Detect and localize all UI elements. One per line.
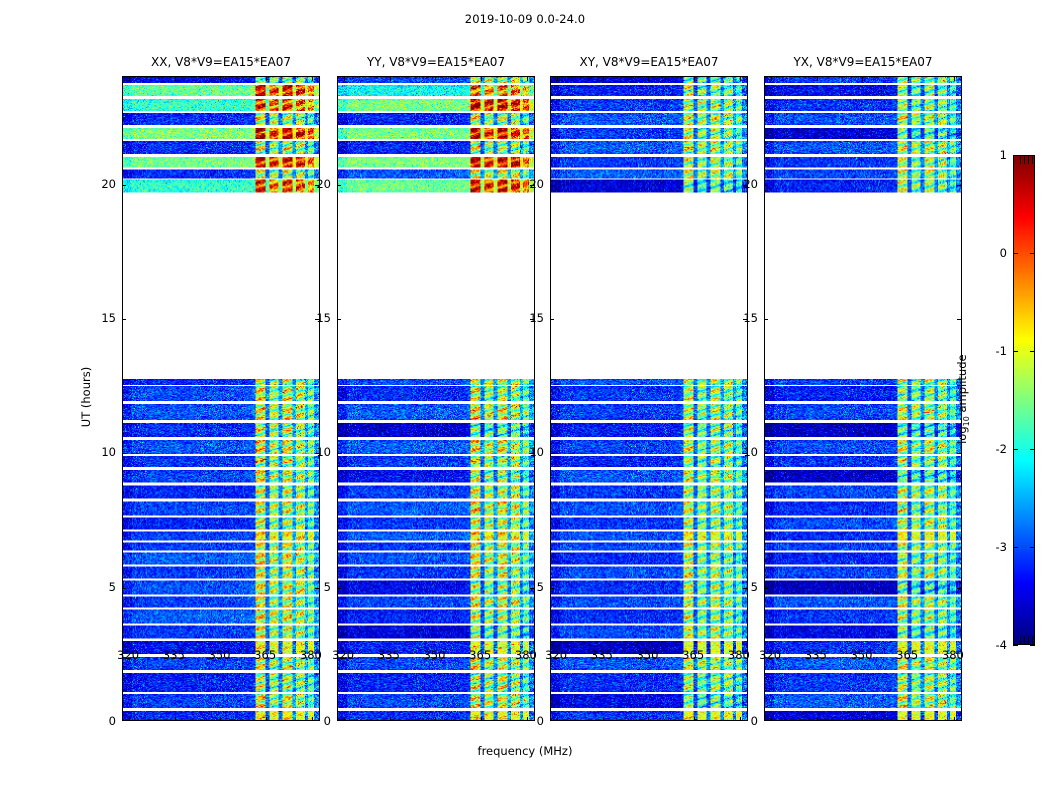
colorbar-label: log10 amplitude: [955, 329, 971, 469]
x-tick-top: [129, 77, 130, 81]
colorbar-tick-label: -1: [979, 344, 1007, 358]
x-tick-top: [954, 77, 955, 81]
x-tick-label: 335: [805, 648, 827, 662]
y-tick-label: 5: [307, 580, 331, 594]
x-tick-top: [344, 77, 345, 81]
x-tick: [220, 717, 221, 721]
x-tick-top: [817, 77, 818, 81]
x-tick: [817, 717, 818, 721]
colorbar[interactable]: [1013, 155, 1035, 645]
panel-title-xy: XY, V8*V9=EA15*EA07: [550, 55, 748, 69]
colorbar-tick: [1013, 547, 1018, 548]
x-tick-top: [435, 77, 436, 81]
x-tick-label: 320: [332, 648, 354, 662]
colorbar-tick: [1013, 155, 1018, 156]
x-tick-top: [557, 77, 558, 81]
x-tick: [390, 717, 391, 721]
x-tick: [129, 717, 130, 721]
colorbar-minor-tick: [1020, 636, 1021, 644]
x-tick: [908, 717, 909, 721]
x-tick-top: [527, 77, 528, 81]
x-tick: [771, 717, 772, 721]
x-tick: [557, 717, 558, 721]
axes-yy[interactable]: [337, 76, 535, 721]
x-tick: [175, 717, 176, 721]
y-tick: [122, 588, 126, 589]
colorbar-tick-label: -2: [979, 442, 1007, 456]
x-tick: [435, 717, 436, 721]
x-tick: [266, 717, 267, 721]
colorbar-tick-label: -4: [979, 638, 1007, 652]
y-tick: [764, 588, 768, 589]
colorbar-tick-right: [1030, 645, 1035, 646]
colorbar-minor-tick: [1024, 636, 1025, 644]
x-tick-top: [862, 77, 863, 81]
y-tick-label: 0: [92, 714, 116, 728]
x-tick: [694, 717, 695, 721]
y-tick: [550, 588, 554, 589]
y-tick-label: 20: [734, 177, 758, 191]
figure-root: 2019-10-09 0.0-24.0 XX, V8*V9=EA15*EA07Y…: [0, 0, 1050, 800]
x-tick-label: 365: [469, 648, 491, 662]
panel-title-xx: XX, V8*V9=EA15*EA07: [122, 55, 320, 69]
y-tick-label: 20: [307, 177, 331, 191]
figure-suptitle: 2019-10-09 0.0-24.0: [0, 12, 1050, 26]
y-tick-label: 0: [307, 714, 331, 728]
x-tick-top: [312, 77, 313, 81]
x-tick-label: 335: [591, 648, 613, 662]
colorbar-gradient: [1014, 156, 1034, 644]
y-tick-label: 20: [520, 177, 544, 191]
x-tick: [954, 717, 955, 721]
y-tick: [550, 319, 554, 320]
x-tick-label: 350: [208, 648, 230, 662]
y-tick: [122, 453, 126, 454]
y-tick-label: 5: [92, 580, 116, 594]
colorbar-tick: [1013, 351, 1018, 352]
x-tick-top: [481, 77, 482, 81]
panel-xx: XX, V8*V9=EA15*EA07: [122, 76, 320, 721]
colorbar-minor-tick: [1024, 156, 1025, 164]
y-tick-label: 15: [520, 311, 544, 325]
y-tick-label: 15: [734, 311, 758, 325]
x-tick-label: 365: [682, 648, 704, 662]
x-tick-top: [390, 77, 391, 81]
x-tick: [481, 717, 482, 721]
y-tick: [337, 185, 341, 186]
colorbar-minor-tick: [1032, 636, 1033, 644]
colorbar-minor-tick: [1028, 156, 1029, 164]
y-tick-label: 0: [520, 714, 544, 728]
y-tick: [122, 319, 126, 320]
colorbar-tick-label: 0: [979, 246, 1007, 260]
x-tick-label: 335: [163, 648, 185, 662]
colorbar-tick: [1013, 253, 1018, 254]
x-tick: [603, 717, 604, 721]
colorbar-tick: [1013, 645, 1018, 646]
axes-xy[interactable]: [550, 76, 748, 721]
y-tick: [764, 185, 768, 186]
colorbar-tick-right: [1030, 547, 1035, 548]
y-tick: [764, 453, 768, 454]
y-tick: [550, 185, 554, 186]
x-axis-label: frequency (MHz): [0, 744, 1050, 758]
y-tick-label: 5: [734, 580, 758, 594]
colorbar-minor-tick: [1020, 156, 1021, 164]
x-tick-label: 380: [728, 648, 750, 662]
x-tick-label: 380: [942, 648, 964, 662]
x-tick-top: [603, 77, 604, 81]
x-tick-label: 350: [423, 648, 445, 662]
y-tick-right: [957, 185, 961, 186]
y-tick-label: 15: [307, 311, 331, 325]
spectrum-image-xy: [551, 77, 747, 720]
colorbar-minor-tick: [1028, 636, 1029, 644]
x-tick-label: 350: [850, 648, 872, 662]
x-tick-top: [771, 77, 772, 81]
x-tick-label: 320: [117, 648, 139, 662]
y-tick-label: 5: [520, 580, 544, 594]
colorbar-tick-right: [1030, 351, 1035, 352]
y-tick-label: 15: [92, 311, 116, 325]
x-tick-label: 380: [515, 648, 537, 662]
x-tick-top: [908, 77, 909, 81]
x-tick: [862, 717, 863, 721]
panel-title-yx: YX, V8*V9=EA15*EA07: [764, 55, 962, 69]
x-tick-top: [175, 77, 176, 81]
x-tick-label: 365: [254, 648, 276, 662]
x-tick-label: 380: [300, 648, 322, 662]
colorbar-tick-label: 1: [979, 148, 1007, 162]
axes-xx[interactable]: [122, 76, 320, 721]
y-tick: [337, 453, 341, 454]
colorbar-tick: [1013, 449, 1018, 450]
y-tick: [122, 185, 126, 186]
x-tick: [344, 717, 345, 721]
x-tick-label: 365: [896, 648, 918, 662]
y-tick: [337, 319, 341, 320]
panel-yx: YX, V8*V9=EA15*EA07: [764, 76, 962, 721]
y-tick-right: [957, 588, 961, 589]
y-tick-label: 10: [520, 445, 544, 459]
y-tick: [337, 588, 341, 589]
y-tick: [550, 453, 554, 454]
x-tick-label: 320: [545, 648, 567, 662]
y-axis-label: UT (hours): [79, 337, 93, 457]
x-tick-top: [694, 77, 695, 81]
x-tick-top: [648, 77, 649, 81]
colorbar-tick-right: [1030, 253, 1035, 254]
colorbar-tick-label: -3: [979, 540, 1007, 554]
panel-yy: YY, V8*V9=EA15*EA07: [337, 76, 535, 721]
y-tick: [764, 319, 768, 320]
y-tick-label: 20: [92, 177, 116, 191]
panel-xy: XY, V8*V9=EA15*EA07: [550, 76, 748, 721]
y-tick-label: 0: [734, 714, 758, 728]
x-tick-top: [740, 77, 741, 81]
panel-title-yy: YY, V8*V9=EA15*EA07: [337, 55, 535, 69]
spectrum-image-xx: [123, 77, 319, 720]
x-tick-top: [220, 77, 221, 81]
spectrum-image-yy: [338, 77, 534, 720]
y-tick-label: 10: [734, 445, 758, 459]
axes-yx[interactable]: [764, 76, 962, 721]
x-tick-label: 350: [636, 648, 658, 662]
y-tick-right: [957, 319, 961, 320]
x-tick: [648, 717, 649, 721]
x-tick-label: 335: [378, 648, 400, 662]
y-tick-label: 10: [307, 445, 331, 459]
y-tick-label: 10: [92, 445, 116, 459]
colorbar-tick-right: [1030, 449, 1035, 450]
x-tick-label: 320: [759, 648, 781, 662]
spectrum-image-yx: [765, 77, 961, 720]
colorbar-minor-tick: [1032, 156, 1033, 164]
x-tick-top: [266, 77, 267, 81]
